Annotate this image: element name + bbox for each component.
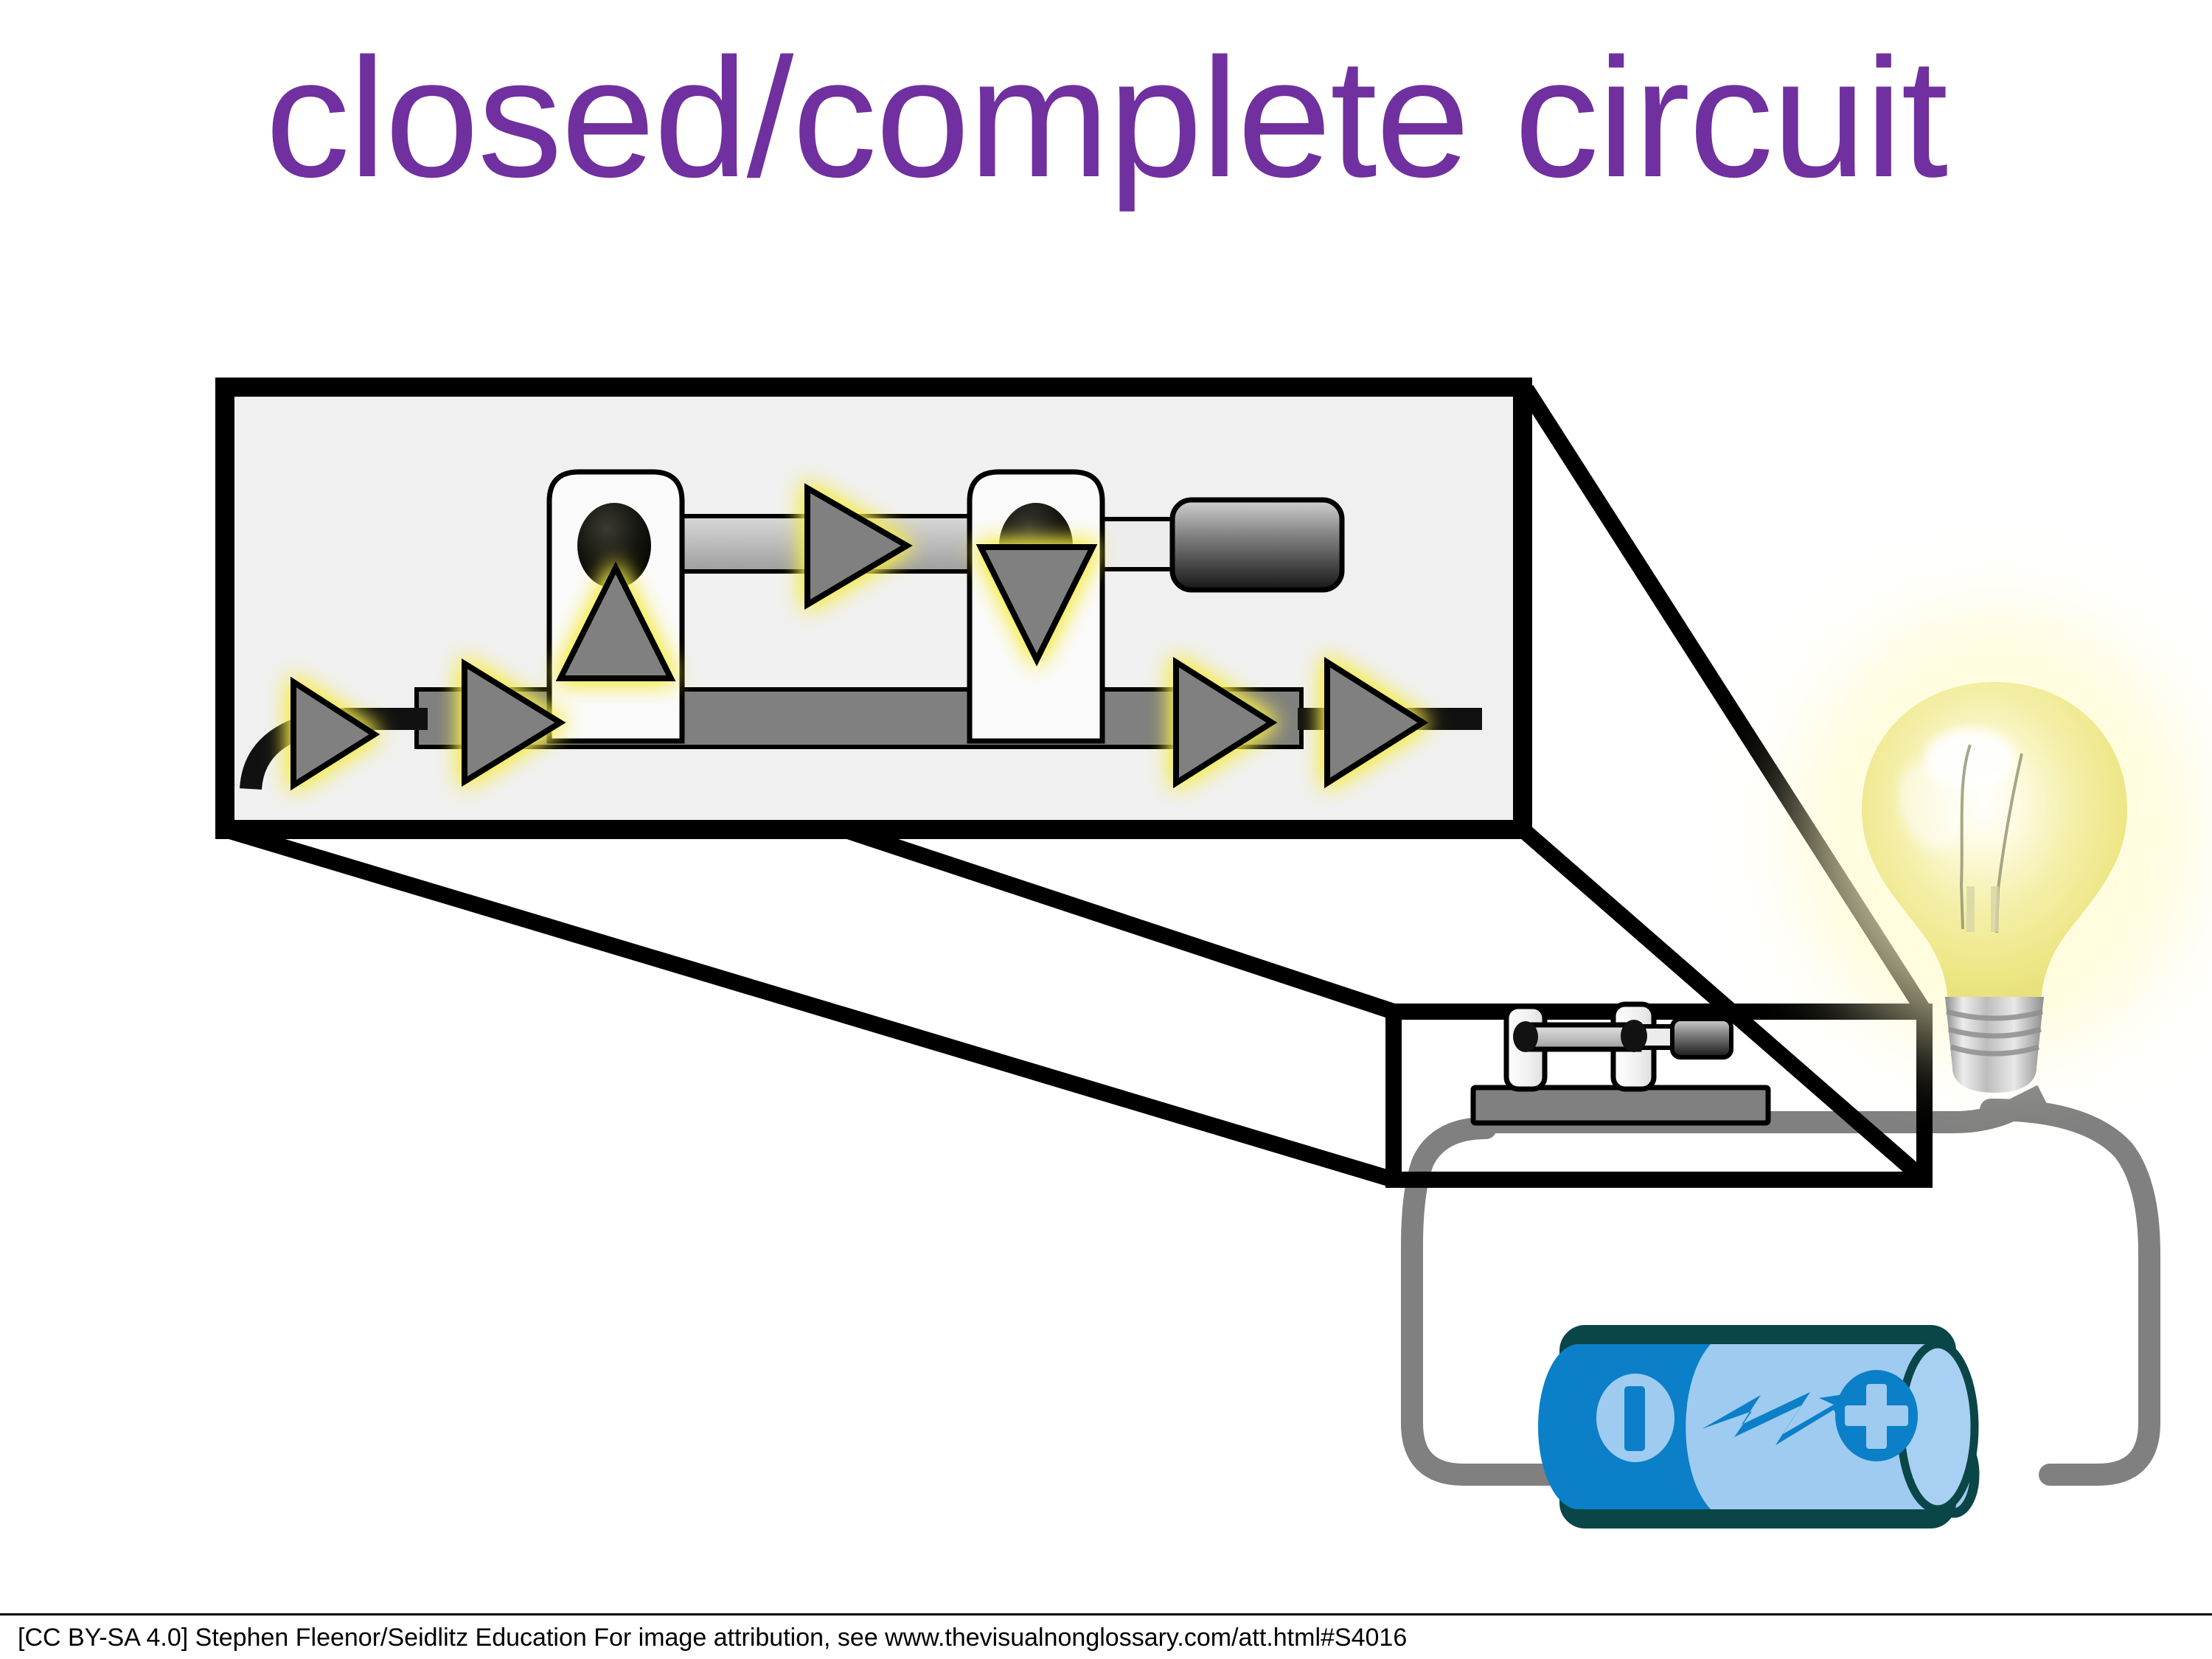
attribution-text: [CC BY-SA 4.0] Stephen Fleenor/Seidlitz …	[18, 1621, 1407, 1654]
knife-switch[interactable]	[1473, 1004, 1768, 1123]
magnified-switch-view	[225, 387, 1523, 829]
bulb-screw-base	[1945, 997, 2044, 1093]
circuit-diagram	[0, 0, 2212, 1659]
diagram-page: closed/complete circuit	[0, 0, 2212, 1659]
battery	[1538, 1335, 1975, 1519]
footer-bar: [CC BY-SA 4.0] Stephen Fleenor/Seidlitz …	[0, 1613, 2212, 1659]
light-bulb	[1792, 612, 2197, 1093]
